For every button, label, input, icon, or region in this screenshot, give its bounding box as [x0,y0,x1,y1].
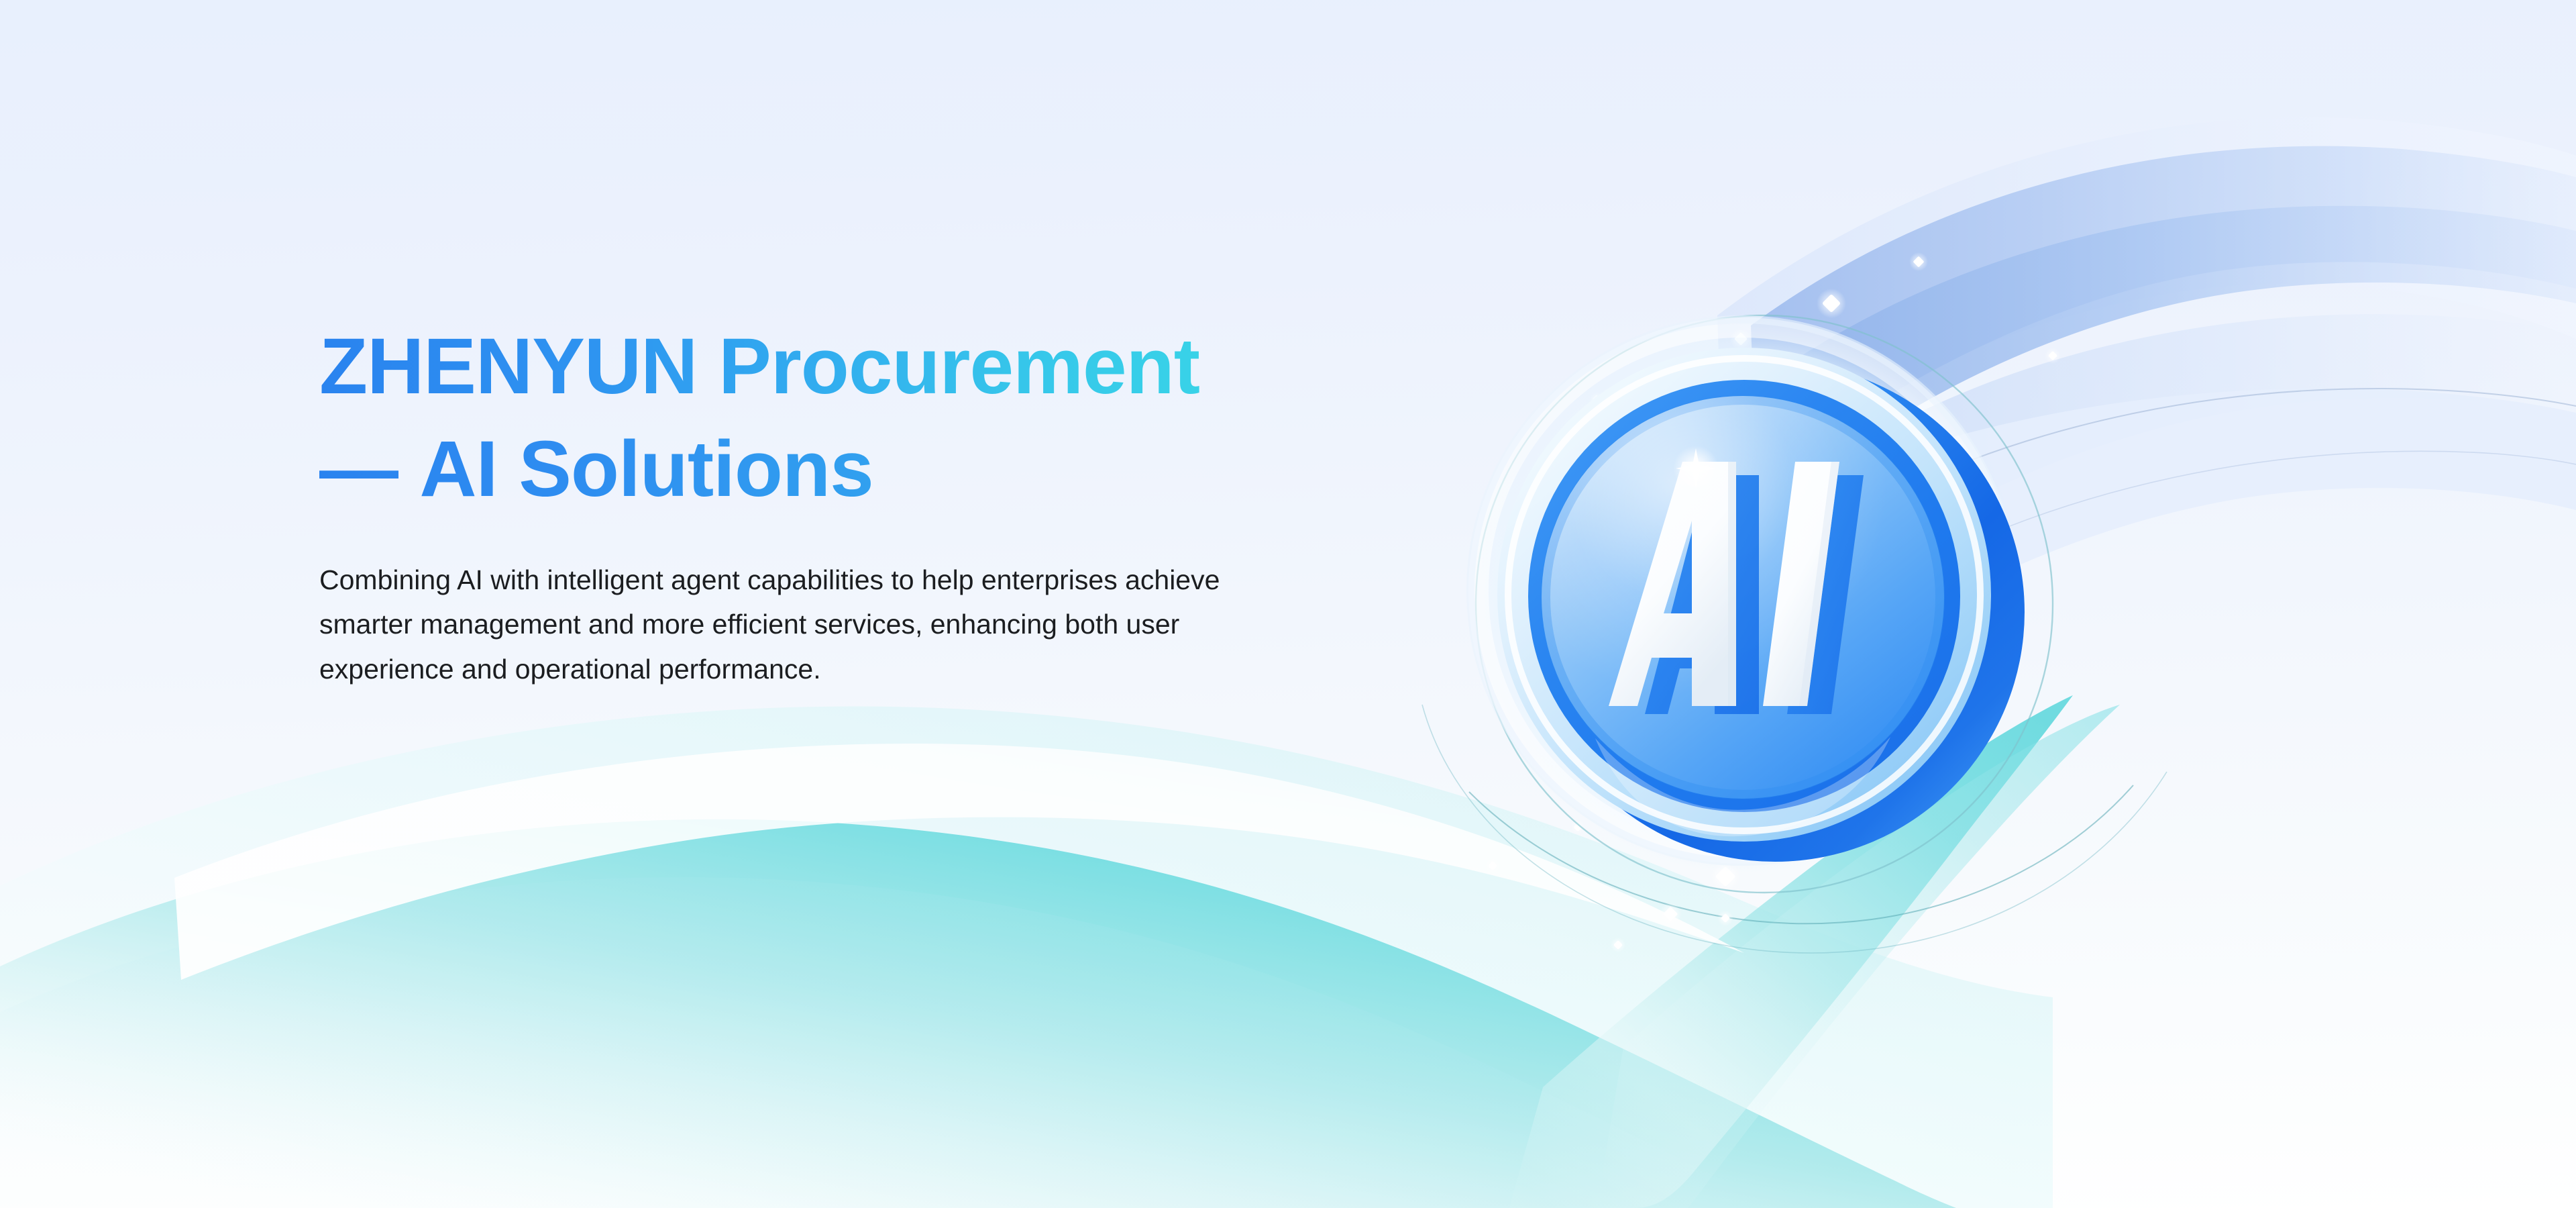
page-title: ZHENYUN Procurement — AI Solutions [319,315,1272,521]
sparkle-diamond [1611,938,1625,952]
letter-a-shade [1728,462,1736,706]
ai-coin-icon [1429,268,2100,940]
hero-copy-block: ZHENYUN Procurement — AI Solutions Combi… [319,315,1272,691]
ai-solutions-hero-banner: ZHENYUN Procurement — AI Solutions Combi… [0,0,2576,1208]
hero-description: Combining AI with intelligent agent capa… [319,558,1238,691]
headline-line-2: — AI Solutions [319,418,873,521]
headline-dash: — [319,425,401,513]
ai-coin-badge [1429,268,2100,940]
headline-line-1: ZHENYUN Procurement [319,315,1199,418]
headline-line-2-text: AI Solutions [419,425,873,513]
coin-sparkle-star [1673,446,1719,491]
